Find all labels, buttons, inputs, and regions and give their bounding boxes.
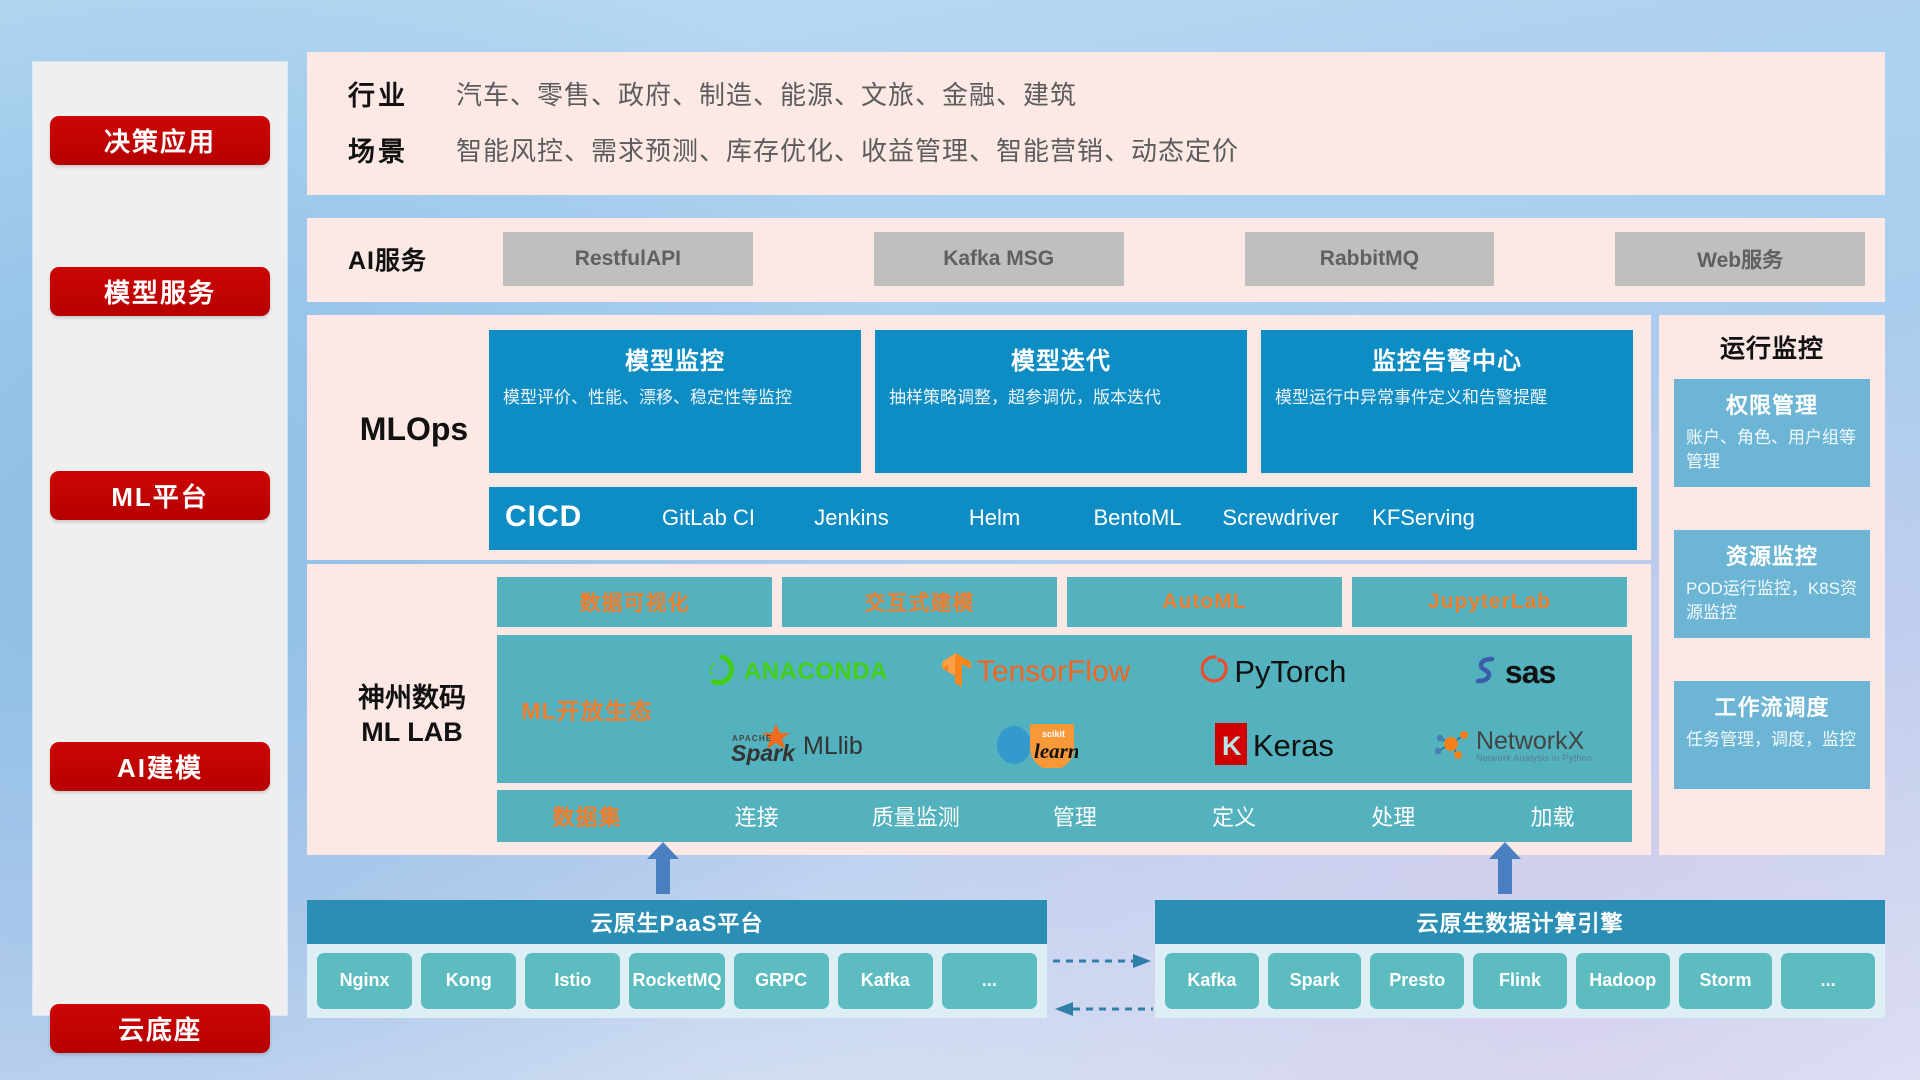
svg-text:K: K — [1222, 731, 1242, 761]
ai-service-panel: AI服务 RestfulAPI Kafka MSG RabbitMQ Web服务 — [307, 218, 1885, 302]
ai-service-item-web-service[interactable]: Web服务 — [1615, 232, 1865, 286]
logo-anaconda-text: ANACONDA — [744, 658, 888, 686]
card-desc: 模型评价、性能、漂移、稳定性等监控 — [503, 386, 847, 411]
card-title: 资源监控 — [1686, 539, 1858, 571]
ai-service-item-rabbitmq[interactable]: RabbitMQ — [1245, 232, 1495, 286]
ml-lab-feature-list: 数据可视化 交互式建模 AutoML JupyterLab — [497, 577, 1627, 627]
cicd-tool-helm[interactable]: Helm — [923, 487, 1066, 530]
card-title: 权限管理 — [1686, 388, 1858, 420]
stage-label-model-service[interactable]: 模型服务 — [50, 267, 270, 316]
logo-mllib-text: MLlib — [803, 732, 863, 761]
card-desc: POD运行监控，K8S资源监控 — [1686, 577, 1858, 625]
industry-value: 汽车、零售、政府、制造、能源、文旅、金融、建筑 — [456, 75, 1077, 112]
logo-scikit-learn[interactable]: scikit learn — [992, 720, 1078, 773]
logo-keras-text: Keras — [1253, 728, 1334, 764]
ai-service-label: AI服务 — [348, 241, 427, 277]
svg-text:scikit: scikit — [1042, 729, 1065, 739]
monitor-card-workflow[interactable]: 工作流调度 任务管理，调度，监控 — [1674, 681, 1870, 789]
cloud-native-compute-panel: 云原生数据计算引擎 Kafka Spark Presto Flink Hadoo… — [1155, 900, 1885, 1018]
cloud-paas-title: 云原生PaaS平台 — [307, 900, 1047, 944]
logo-networkx[interactable]: NetworkX Network Analysis in Python — [1433, 727, 1592, 766]
dataset-item-load[interactable]: 加载 — [1473, 800, 1632, 832]
cicd-tool-screwdriver[interactable]: Screwdriver — [1209, 487, 1352, 530]
industry-row: 行业 汽车、零售、政府、制造、能源、文旅、金融、建筑 — [348, 74, 1077, 113]
chip-nginx[interactable]: Nginx — [317, 953, 412, 1009]
ml-open-ecosystem-label: ML开放生态 — [497, 692, 677, 726]
industry-key: 行业 — [348, 74, 456, 113]
logo-tensorflow-text: TensorFlow — [977, 655, 1130, 689]
cicd-tool-bentoml[interactable]: BentoML — [1066, 487, 1209, 530]
up-arrow-icon-compute — [1488, 842, 1522, 894]
ml-lab-label: 神州数码 ML LAB — [327, 682, 497, 750]
logo-sas[interactable]: sas — [1470, 654, 1555, 691]
logo-networkx-text-group: NetworkX Network Analysis in Python — [1476, 729, 1592, 763]
chip-hadoop[interactable]: Hadoop — [1576, 953, 1670, 1009]
cloud-compute-title: 云原生数据计算引擎 — [1155, 900, 1885, 944]
dataset-band: 数据集 连接 质量监测 管理 定义 处理 加载 — [497, 790, 1632, 842]
up-arrow-icon-paas — [646, 842, 680, 894]
cicd-tool-kfserving[interactable]: KFServing — [1352, 487, 1495, 530]
mlops-card-list: 模型监控 模型评价、性能、漂移、稳定性等监控 模型迭代 抽样策略调整，超参调优，… — [489, 330, 1633, 473]
runtime-monitor-title: 运行监控 — [1659, 329, 1885, 365]
stage-label-cloud-base[interactable]: 云底座 — [50, 1004, 270, 1053]
scenario-key: 场景 — [348, 130, 456, 169]
card-title: 工作流调度 — [1686, 690, 1858, 722]
monitor-card-permission[interactable]: 权限管理 账户、角色、用户组等管理 — [1674, 379, 1870, 487]
logo-networkx-text: NetworkX — [1476, 729, 1592, 754]
card-desc: 抽样策略调整，超参调优，版本迭代 — [889, 386, 1233, 411]
networkx-icon — [1433, 727, 1471, 766]
ml-logo-grid: ANACONDA TensorFlow — [677, 635, 1632, 783]
ml-lab-label-line2: ML LAB — [327, 716, 497, 750]
chip-kong[interactable]: Kong — [421, 953, 516, 1009]
card-desc: 任务管理，调度，监控 — [1686, 728, 1858, 752]
card-title: 模型监控 — [503, 341, 847, 376]
stage-label-ai-modeling[interactable]: AI建模 — [50, 742, 270, 791]
cloud-compute-chip-list: Kafka Spark Presto Flink Hadoop Storm ..… — [1155, 944, 1885, 1018]
chip-more[interactable]: ... — [942, 953, 1037, 1009]
dataset-item-process[interactable]: 处理 — [1314, 800, 1473, 832]
ml-lab-feature-automl[interactable]: AutoML — [1067, 577, 1342, 627]
logo-pytorch[interactable]: PyTorch — [1201, 653, 1346, 692]
ml-lab-label-line1: 神州数码 — [327, 682, 497, 716]
stage-label-ml-platform[interactable]: ML平台 — [50, 471, 270, 520]
chip-grpc[interactable]: GRPC — [734, 953, 829, 1009]
chip-rocketmq[interactable]: RocketMQ — [629, 953, 724, 1009]
dataset-item-define[interactable]: 定义 — [1155, 800, 1314, 832]
scenario-row: 场景 智能风控、需求预测、库存优化、收益管理、智能营销、动态定价 — [348, 130, 1239, 169]
chip-istio[interactable]: Istio — [525, 953, 620, 1009]
chip-storm[interactable]: Storm — [1679, 953, 1773, 1009]
logo-pytorch-text: PyTorch — [1234, 654, 1346, 690]
chip-presto[interactable]: Presto — [1370, 953, 1464, 1009]
monitor-card-resource[interactable]: 资源监控 POD运行监控，K8S资源监控 — [1674, 530, 1870, 638]
dashed-arrow-icon-left — [1053, 1000, 1153, 1023]
mlops-panel: MLOps 模型监控 模型评价、性能、漂移、稳定性等监控 模型迭代 抽样策略调整… — [307, 315, 1651, 560]
dataset-item-connect[interactable]: 连接 — [677, 800, 836, 832]
ml-lab-feature-jupyterlab[interactable]: JupyterLab — [1352, 577, 1627, 627]
sas-icon — [1470, 654, 1500, 691]
mlops-card-model-iteration[interactable]: 模型迭代 抽样策略调整，超参调优，版本迭代 — [875, 330, 1247, 473]
card-title: 模型迭代 — [889, 341, 1233, 376]
keras-icon: K — [1214, 722, 1248, 771]
runtime-monitor-panel: 运行监控 权限管理 账户、角色、用户组等管理 资源监控 POD运行监控，K8S资… — [1659, 315, 1885, 855]
dataset-item-manage[interactable]: 管理 — [995, 800, 1154, 832]
cloud-paas-chip-list: Nginx Kong Istio RocketMQ GRPC Kafka ... — [307, 944, 1047, 1018]
card-title: 监控告警中心 — [1275, 341, 1619, 376]
logo-networkx-tagline: Network Analysis in Python — [1476, 754, 1592, 763]
chip-kafka[interactable]: Kafka — [838, 953, 933, 1009]
ai-service-box-list: RestfulAPI Kafka MSG RabbitMQ Web服务 — [503, 232, 1865, 286]
industry-scenario-panel: 行业 汽车、零售、政府、制造、能源、文旅、金融、建筑 场景 智能风控、需求预测、… — [307, 52, 1885, 195]
tensorflow-icon — [940, 652, 972, 693]
chip-spark[interactable]: Spark — [1268, 953, 1362, 1009]
svg-text:learn: learn — [1034, 739, 1078, 763]
mlops-card-model-monitor[interactable]: 模型监控 模型评价、性能、漂移、稳定性等监控 — [489, 330, 861, 473]
dashed-arrow-icon-right — [1053, 952, 1153, 975]
dataset-label: 数据集 — [497, 800, 677, 832]
left-label-column: 决策应用 模型服务 ML平台 AI建模 云底座 — [33, 62, 287, 1015]
card-desc: 模型运行中异常事件定义和告警提醒 — [1275, 386, 1619, 411]
logo-spark-mllib[interactable]: APACHE Spark MLlib — [730, 723, 863, 770]
card-desc: 账户、角色、用户组等管理 — [1686, 426, 1858, 474]
cicd-tool-gitlab-ci[interactable]: GitLab CI — [637, 487, 780, 530]
anaconda-icon — [705, 653, 739, 692]
chip-more[interactable]: ... — [1781, 953, 1875, 1009]
mlops-card-alert-center[interactable]: 监控告警中心 模型运行中异常事件定义和告警提醒 — [1261, 330, 1633, 473]
scikit-learn-icon: scikit learn — [992, 720, 1078, 773]
cloud-native-paas-panel: 云原生PaaS平台 Nginx Kong Istio RocketMQ GRPC… — [307, 900, 1047, 1018]
ai-service-item-kafka-msg[interactable]: Kafka MSG — [874, 232, 1124, 286]
spark-icon: APACHE Spark — [730, 723, 798, 770]
cicd-toolbar: CICD GitLab CI Jenkins Helm BentoML Scre… — [489, 487, 1637, 550]
chip-kafka[interactable]: Kafka — [1165, 953, 1259, 1009]
ml-lab-panel: 神州数码 ML LAB 数据可视化 交互式建模 AutoML JupyterLa… — [307, 564, 1651, 855]
chip-flink[interactable]: Flink — [1473, 953, 1567, 1009]
logo-anaconda[interactable]: ANACONDA — [705, 653, 888, 692]
cicd-label: CICD — [489, 487, 637, 534]
ml-lab-feature-data-viz[interactable]: 数据可视化 — [497, 577, 772, 627]
logo-tensorflow[interactable]: TensorFlow — [940, 652, 1130, 693]
cicd-tool-jenkins[interactable]: Jenkins — [780, 487, 923, 530]
ai-service-item-restfulapi[interactable]: RestfulAPI — [503, 232, 753, 286]
scenario-value: 智能风控、需求预测、库存优化、收益管理、智能营销、动态定价 — [456, 131, 1239, 168]
svg-text:Spark: Spark — [731, 740, 796, 765]
logo-sas-text: sas — [1505, 654, 1555, 691]
pytorch-icon — [1201, 653, 1229, 692]
ml-lab-feature-interactive-modeling[interactable]: 交互式建模 — [782, 577, 1057, 627]
dataset-item-quality[interactable]: 质量监测 — [836, 800, 995, 832]
stage-label-decision-app[interactable]: 决策应用 — [50, 116, 270, 165]
logo-keras[interactable]: K Keras — [1214, 722, 1334, 771]
ml-open-ecosystem-band: ML开放生态 ANACONDA — [497, 635, 1632, 783]
mlops-label: MLOps — [339, 411, 489, 448]
